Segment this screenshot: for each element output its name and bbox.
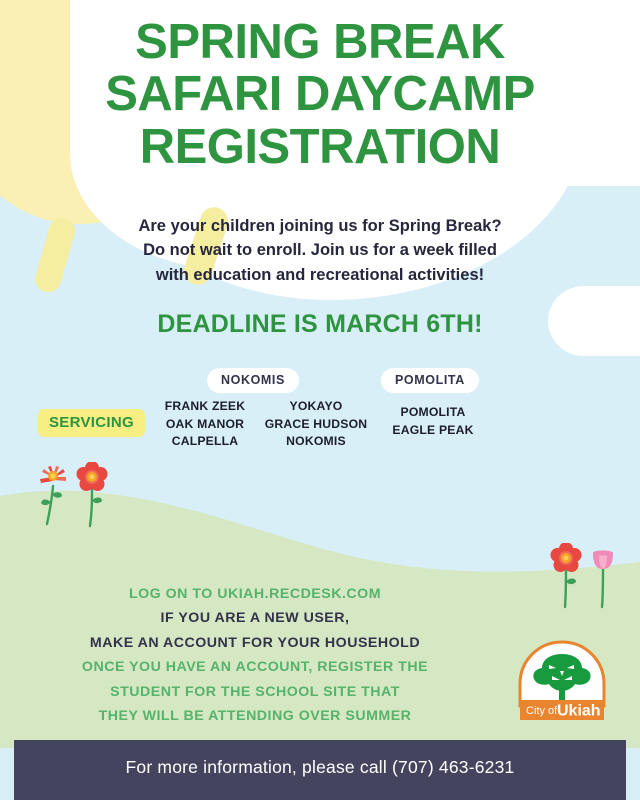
school-name: OAK MANOR bbox=[152, 416, 258, 434]
red-flower-icon-left bbox=[74, 462, 110, 528]
school-name: GRACE HUDSON bbox=[258, 416, 374, 434]
school-name: CALPELLA bbox=[152, 433, 258, 451]
school-list-column-2: YOKAYO GRACE HUDSON NOKOMIS bbox=[258, 398, 374, 451]
city-of-ukiah-logo: City of Ukiah bbox=[516, 638, 608, 724]
instructions-block: LOG ON TO UKIAH.RECDESK.COM IF YOU ARE A… bbox=[20, 582, 490, 729]
title-line-1: SPRING BREAK bbox=[0, 16, 640, 68]
school-name: YOKAYO bbox=[258, 398, 374, 416]
instruction-line-2: IF YOU ARE A NEW USER, bbox=[20, 606, 490, 630]
flyer-poster: SPRING BREAK SAFARI DAYCAMP REGISTRATION… bbox=[0, 0, 640, 800]
intro-paragraph: Are your children joining us for Spring … bbox=[60, 214, 580, 287]
school-badge-nokomis: NOKOMIS bbox=[207, 368, 299, 393]
title-line-3: REGISTRATION bbox=[0, 121, 640, 173]
intro-line-2: Do not wait to enroll. Join us for a wee… bbox=[60, 238, 580, 262]
school-list-column-3: POMOLITA EAGLE PEAK bbox=[378, 404, 488, 439]
school-name: NOKOMIS bbox=[258, 433, 374, 451]
deadline-heading: DEADLINE IS MARCH 6TH! bbox=[0, 310, 640, 339]
footer-contact-text: For more information, please call (707) … bbox=[14, 757, 626, 778]
school-name: FRANK ZEEK bbox=[152, 398, 258, 416]
school-list-column-1: FRANK ZEEK OAK MANOR CALPELLA bbox=[152, 398, 258, 451]
red-flower-icon-right bbox=[548, 543, 584, 609]
instruction-line-5: STUDENT FOR THE SCHOOL SITE THAT bbox=[20, 680, 490, 704]
footer-bar: For more information, please call (707) … bbox=[14, 740, 626, 800]
tulip-flower-icon bbox=[588, 543, 620, 609]
logo-name-text: Ukiah bbox=[557, 703, 601, 720]
school-name: POMOLITA bbox=[378, 404, 488, 422]
servicing-label: SERVICING bbox=[38, 409, 145, 437]
instruction-line-3: MAKE AN ACCOUNT FOR YOUR HOUSEHOLD bbox=[20, 631, 490, 655]
logo-city-text: City of bbox=[526, 705, 558, 717]
daisy-flower-icon bbox=[36, 462, 72, 528]
intro-line-3: with education and recreational activiti… bbox=[60, 263, 580, 287]
instruction-line-1: LOG ON TO UKIAH.RECDESK.COM bbox=[20, 582, 490, 606]
page-title: SPRING BREAK SAFARI DAYCAMP REGISTRATION bbox=[0, 16, 640, 173]
school-badge-pomolita: POMOLITA bbox=[381, 368, 479, 393]
title-line-2: SAFARI DAYCAMP bbox=[0, 68, 640, 120]
instruction-line-4: ONCE YOU HAVE AN ACCOUNT, REGISTER THE bbox=[20, 655, 490, 679]
instruction-line-6: THEY WILL BE ATTENDING OVER SUMMER bbox=[20, 704, 490, 728]
school-name: EAGLE PEAK bbox=[378, 422, 488, 440]
intro-line-1: Are your children joining us for Spring … bbox=[60, 214, 580, 238]
